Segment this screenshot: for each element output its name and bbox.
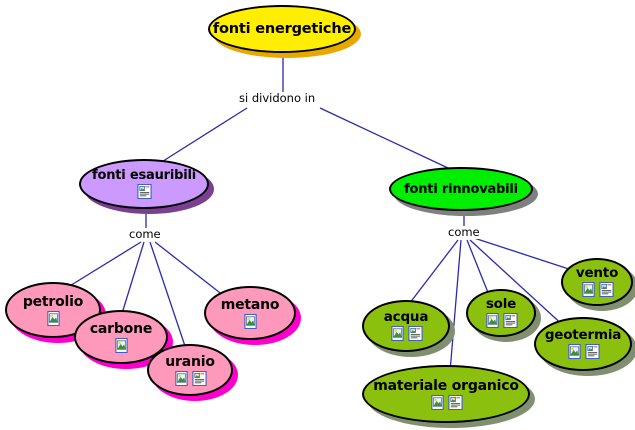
document-icon[interactable] bbox=[192, 371, 207, 386]
node-label: acqua bbox=[384, 311, 429, 325]
node-label: geotermia bbox=[545, 329, 621, 343]
picture-icon[interactable] bbox=[390, 326, 405, 341]
node-label: uranio bbox=[165, 355, 215, 369]
picture-icon[interactable] bbox=[243, 314, 258, 329]
edge-come-to-vento bbox=[474, 238, 578, 272]
node-label: fonti energetiche bbox=[213, 22, 351, 37]
node-metano[interactable]: metano bbox=[204, 286, 296, 340]
picture-icon[interactable] bbox=[485, 313, 500, 328]
document-icon[interactable] bbox=[585, 344, 600, 359]
document-icon[interactable] bbox=[503, 313, 518, 328]
picture-icon[interactable] bbox=[114, 338, 129, 353]
picture-icon[interactable] bbox=[46, 311, 61, 326]
node-icons bbox=[485, 313, 518, 328]
connector-lines bbox=[0, 0, 635, 430]
node-vento[interactable]: vento bbox=[561, 258, 633, 306]
node-fonti-esauribili[interactable]: fonti esauribili bbox=[79, 159, 209, 209]
node-label: vento bbox=[576, 267, 618, 281]
node-icons bbox=[581, 282, 614, 297]
picture-icon[interactable] bbox=[430, 395, 445, 410]
edge-come-to-materiale bbox=[450, 240, 461, 372]
document-icon[interactable] bbox=[408, 326, 423, 341]
concept-map-canvas: fonti energetiche si dividono in fonti e… bbox=[0, 0, 635, 430]
node-sole[interactable]: sole bbox=[466, 289, 536, 337]
node-label: sole bbox=[486, 298, 516, 312]
edge-label-come-esauribili: come bbox=[127, 228, 163, 241]
node-geotermia[interactable]: geotermia bbox=[534, 317, 632, 371]
node-icons bbox=[114, 338, 129, 353]
picture-icon[interactable] bbox=[567, 344, 582, 359]
edge-label-come-rinnovabili: come bbox=[446, 226, 482, 239]
node-icons bbox=[46, 311, 61, 326]
node-label: petrolio bbox=[23, 295, 83, 309]
edge-label-si-dividono-in: si dividono in bbox=[237, 92, 317, 105]
document-icon[interactable] bbox=[599, 282, 614, 297]
edge-come-to-carbone bbox=[120, 242, 144, 320]
edge-come-to-acqua bbox=[406, 240, 458, 308]
node-icons bbox=[174, 371, 207, 386]
edge-split-to-esauribili bbox=[160, 108, 247, 163]
node-label: carbone bbox=[90, 322, 152, 336]
node-icons bbox=[567, 344, 600, 359]
document-icon[interactable] bbox=[137, 184, 152, 199]
node-label: materiale organico bbox=[373, 379, 519, 393]
node-uranio[interactable]: uranio bbox=[147, 344, 233, 396]
node-icons bbox=[430, 395, 463, 410]
node-icons bbox=[243, 314, 258, 329]
node-acqua[interactable]: acqua bbox=[362, 300, 450, 352]
edge-split-to-rinnovabili bbox=[320, 108, 448, 168]
node-icons bbox=[390, 326, 423, 341]
node-icons bbox=[137, 184, 152, 199]
node-label: metano bbox=[221, 298, 280, 312]
node-materiale-organico[interactable]: materiale organico bbox=[362, 365, 530, 423]
node-fonti-rinnovabili[interactable]: fonti rinnovabili bbox=[389, 167, 533, 211]
node-fonti-energetiche[interactable]: fonti energetiche bbox=[208, 5, 356, 53]
node-label: fonti rinnovabili bbox=[404, 183, 518, 196]
node-label: fonti esauribili bbox=[92, 169, 196, 182]
document-icon[interactable] bbox=[448, 395, 463, 410]
picture-icon[interactable] bbox=[174, 371, 189, 386]
picture-icon[interactable] bbox=[581, 282, 596, 297]
